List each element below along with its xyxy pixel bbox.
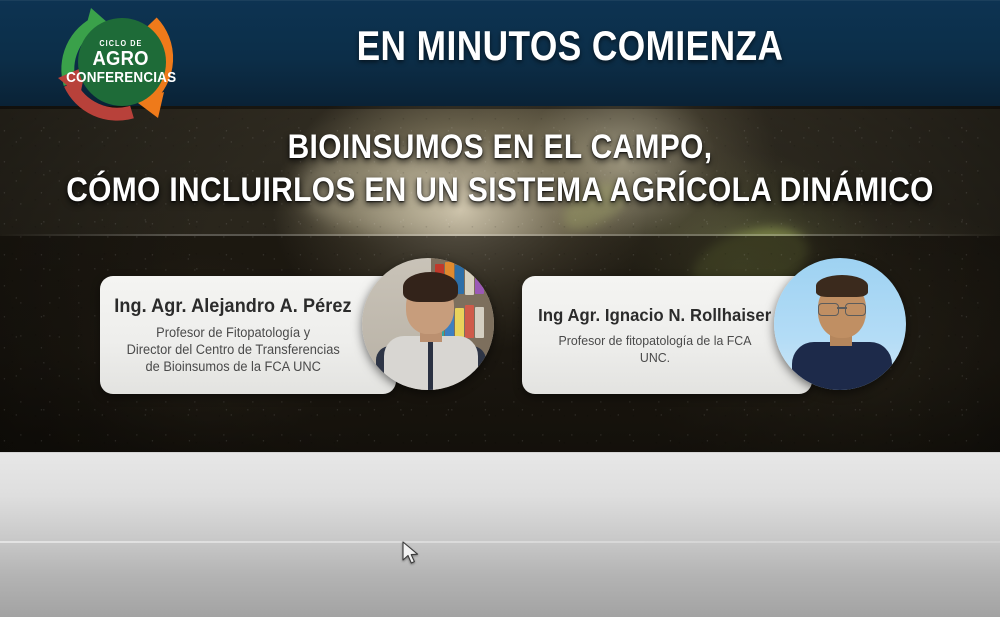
photo-torso — [792, 342, 892, 390]
speaker-role: Profesor de Fitopatología y Director del… — [126, 324, 339, 375]
speaker-role: Profesor de fitopatología de la FCA UNC. — [544, 332, 766, 366]
mouse-pointer-icon — [402, 541, 419, 565]
speaker-info-card: Ing Agr. Ignacio N. Rollhaiser Profesor … — [522, 276, 812, 394]
speaker-card-alejandro-perez: Ing. Agr. Alejandro A. Pérez Profesor de… — [100, 276, 502, 402]
book-spine — [465, 305, 474, 338]
speaker-role-line: Profesor de fitopatología de la FCA UNC. — [544, 332, 766, 366]
speaker-name: Ing Agr. Ignacio N. Rollhaiser — [538, 304, 771, 326]
photo-hair — [403, 272, 458, 302]
photo-jacket-zipper — [428, 338, 433, 390]
book-spine — [455, 308, 464, 338]
speaker-role-line: Profesor de Fitopatología y — [126, 324, 339, 341]
title-line-2: CÓMO INCLUIRLOS EN UN SISTEMA AGRÍCOLA D… — [60, 168, 940, 212]
banner-headline: EN MINUTOS COMIENZA — [293, 22, 847, 70]
speaker-name: Ing. Agr. Alejandro A. Pérez — [114, 296, 351, 318]
book-spine — [465, 261, 474, 295]
speaker-role-line: de Bioinsumos de la FCA UNC — [126, 358, 339, 375]
speaker-role-line: Director del Centro de Transferencias — [126, 341, 339, 358]
ciclo-agro-conferencias-logo: CICLO DE AGRO CONFERENCIAS — [36, 0, 206, 125]
speaker-card-ignacio-rollhaiser: Ing Agr. Ignacio N. Rollhaiser Profesor … — [522, 276, 900, 402]
title-divider — [0, 234, 1000, 236]
photo-hair — [816, 275, 868, 297]
broadcast-slide: EN MINUTOS COMIENZA CICLO DE AGRO CONFER… — [0, 0, 1000, 617]
book-spine — [475, 266, 484, 294]
speaker-photo-alejandro-perez — [362, 258, 494, 390]
sponsor-band: FCA Facultad de Ciencias Agropecuarias — [0, 452, 1000, 617]
title-line-1: BIOINSUMOS EN EL CAMPO, — [60, 126, 940, 168]
speaker-info-card: Ing. Agr. Alejandro A. Pérez Profesor de… — [100, 276, 396, 394]
page-title: BIOINSUMOS EN EL CAMPO, CÓMO INCLUIRLOS … — [0, 126, 1000, 212]
photo-eyeglasses — [818, 303, 866, 314]
book-spine — [475, 307, 484, 338]
speaker-photo-ignacio-rollhaiser — [774, 258, 906, 390]
cycle-arrows-icon — [36, 0, 206, 125]
